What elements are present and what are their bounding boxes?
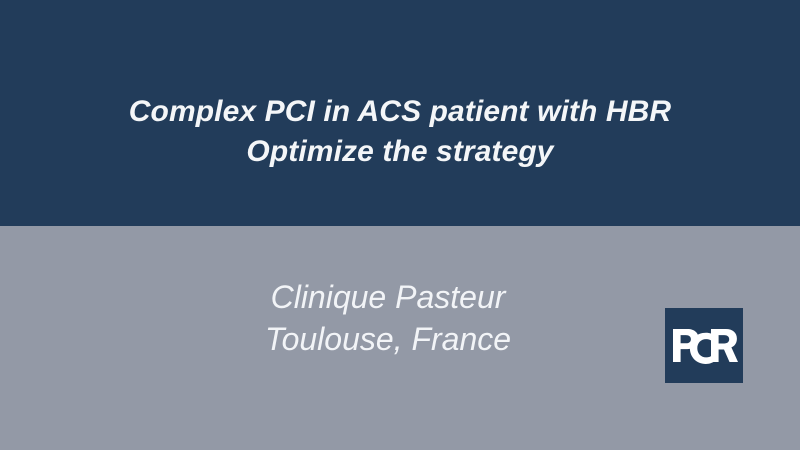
- affiliation-institution: Clinique Pasteur: [0, 276, 776, 318]
- title-slide: Complex PCI in ACS patient with HBR Opti…: [0, 0, 800, 450]
- affiliation-location: Toulouse, France: [0, 318, 776, 360]
- title-line-2: Optimize the strategy: [0, 132, 800, 172]
- affiliation-block: Clinique Pasteur Toulouse, France: [0, 276, 776, 360]
- pcr-logo: [665, 308, 743, 383]
- title-line-1: Complex PCI in ACS patient with HBR: [0, 92, 800, 132]
- pcr-logo-icon: [665, 308, 743, 383]
- page-title: Complex PCI in ACS patient with HBR Opti…: [0, 92, 800, 172]
